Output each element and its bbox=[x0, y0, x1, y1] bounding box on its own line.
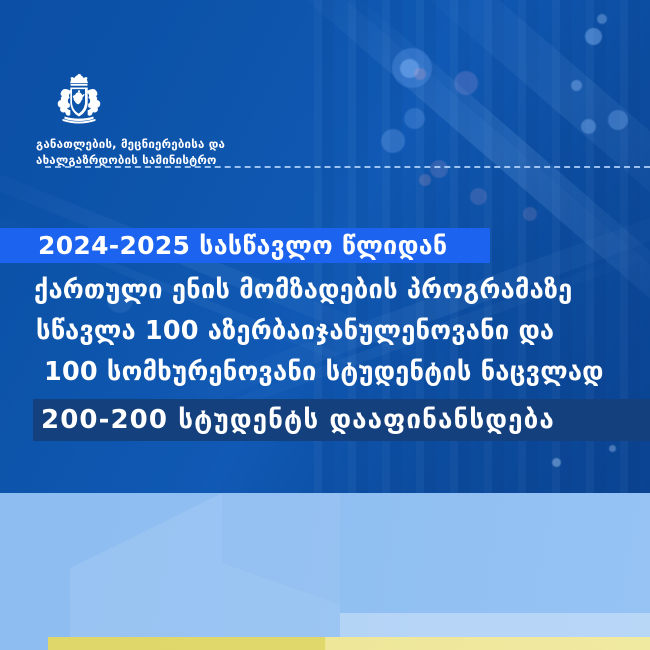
ministry-logo: განათლების, მეცნიერებისა და ახალგაზრდობი… bbox=[36, 72, 276, 169]
headline-final-row: 200-200 სტუდენტს დააფინანსდება bbox=[0, 399, 650, 443]
georgia-coat-of-arms-icon bbox=[50, 72, 108, 130]
headline-line-3: 100 სომხურენოვანი სტუდენტის ნაცვლად bbox=[0, 354, 650, 391]
headline-eyebrow-text: 2024-2025 სასწავლო წლიდან bbox=[0, 228, 650, 263]
headline-line-1: ქართული ენის მომზადების პროგრამაზე bbox=[0, 272, 650, 309]
ministry-name-label: განათლების, მეცნიერებისა და ახალგაზრდობი… bbox=[36, 137, 276, 169]
headline-eyebrow-row: 2024-2025 სასწავლო წლიდან bbox=[0, 228, 650, 272]
yellow-accent-bar bbox=[48, 637, 650, 650]
headline-line-2: სწავლა 100 აზერბაიჯანულენოვანი და bbox=[0, 313, 650, 350]
poster-canvas: განათლების, მეცნიერებისა და ახალგაზრდობი… bbox=[0, 0, 650, 650]
headline-block: 2024-2025 სასწავლო წლიდან ქართული ენის მ… bbox=[0, 228, 650, 443]
headline-final-text: 200-200 სტუდენტს დააფინანსდება bbox=[0, 399, 650, 441]
bottom-light-background bbox=[0, 493, 650, 650]
headline-line-1-row: ქართული ენის მომზადების პროგრამაზე bbox=[0, 272, 650, 313]
headline-line-3-row: 100 სომხურენოვანი სტუდენტის ნაცვლად bbox=[0, 354, 650, 395]
headline-line-2-row: სწავლა 100 აზერბაიჯანულენოვანი და bbox=[0, 313, 650, 354]
isometric-panel-shape bbox=[70, 493, 222, 650]
